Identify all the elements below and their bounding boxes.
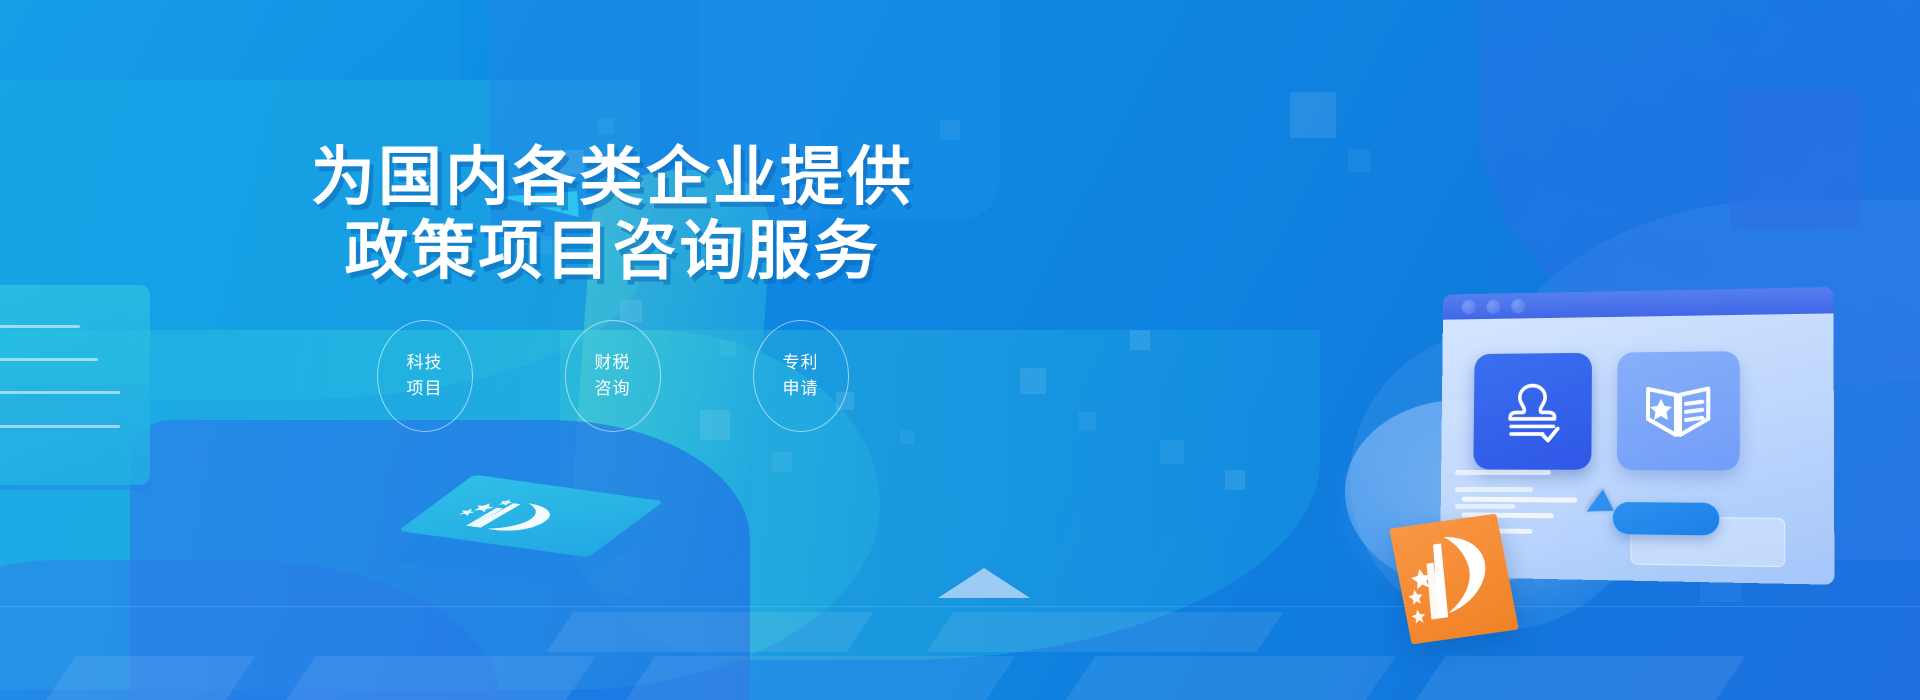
window-dot-2 xyxy=(1486,299,1500,314)
badge-label-bottom: 咨询 xyxy=(595,376,631,402)
bg-square xyxy=(940,120,960,140)
headline-line-1: 为国内各类企业提供 xyxy=(0,140,1225,214)
floor-tile xyxy=(624,656,1015,700)
badge-label-top: 科技 xyxy=(407,350,443,376)
orange-logo-card xyxy=(1389,514,1519,645)
bg-square xyxy=(900,430,914,444)
speed-line xyxy=(1455,470,1551,475)
certificate-badge-card[interactable] xyxy=(1617,351,1740,470)
badge-patent-apply[interactable]: 专利 申请 xyxy=(753,320,849,432)
floor-tile xyxy=(1064,656,1395,700)
badge-tech-project[interactable]: 科技 项目 xyxy=(377,320,473,432)
speed-line xyxy=(1455,504,1515,509)
bg-square xyxy=(620,300,642,322)
bg-square xyxy=(772,452,792,472)
stamp-seal-card[interactable] xyxy=(1473,353,1592,470)
p-swoosh-logo-icon xyxy=(1389,514,1519,645)
floor-tile xyxy=(44,656,255,700)
pointer-cursor-icon xyxy=(1581,489,1614,522)
hero-banner: 为国内各类企业提供 政策项目咨询服务 科技 项目 财税 咨询 专利 申请 xyxy=(0,0,1920,700)
floor-tile xyxy=(927,612,1284,652)
bg-square xyxy=(1290,92,1336,138)
bg-square xyxy=(598,118,614,134)
bg-square xyxy=(1160,440,1184,464)
floor-tile xyxy=(1414,656,1745,700)
window-dot-1 xyxy=(1462,299,1476,314)
bg-square xyxy=(1348,150,1370,172)
perspective-floor xyxy=(0,560,1920,700)
cyan-logo-card xyxy=(390,470,590,590)
bg-square xyxy=(1225,470,1245,490)
certificate-badge-icon xyxy=(1642,378,1714,445)
stamp-seal-icon xyxy=(1498,377,1566,446)
bg-rect-right xyxy=(1730,90,1860,230)
badge-finance-tax[interactable]: 财税 咨询 xyxy=(565,320,661,432)
floor-tile xyxy=(547,612,874,652)
headline: 为国内各类企业提供 政策项目咨询服务 xyxy=(0,140,1225,288)
badge-label-bottom: 申请 xyxy=(783,376,819,402)
speed-line xyxy=(1455,487,1533,492)
headline-line-2: 政策项目咨询服务 xyxy=(0,214,1225,288)
badge-label-top: 财税 xyxy=(595,350,631,376)
floor-line xyxy=(0,606,1920,607)
motion-speed-lines xyxy=(1455,470,1551,521)
service-badge-list: 科技 项目 财税 咨询 专利 申请 xyxy=(0,320,1225,432)
badge-label-top: 专利 xyxy=(783,350,819,376)
badge-label-bottom: 项目 xyxy=(407,376,443,402)
window-dot-3 xyxy=(1511,298,1525,313)
window-action-button[interactable] xyxy=(1613,502,1720,536)
floor-tile xyxy=(284,656,595,700)
